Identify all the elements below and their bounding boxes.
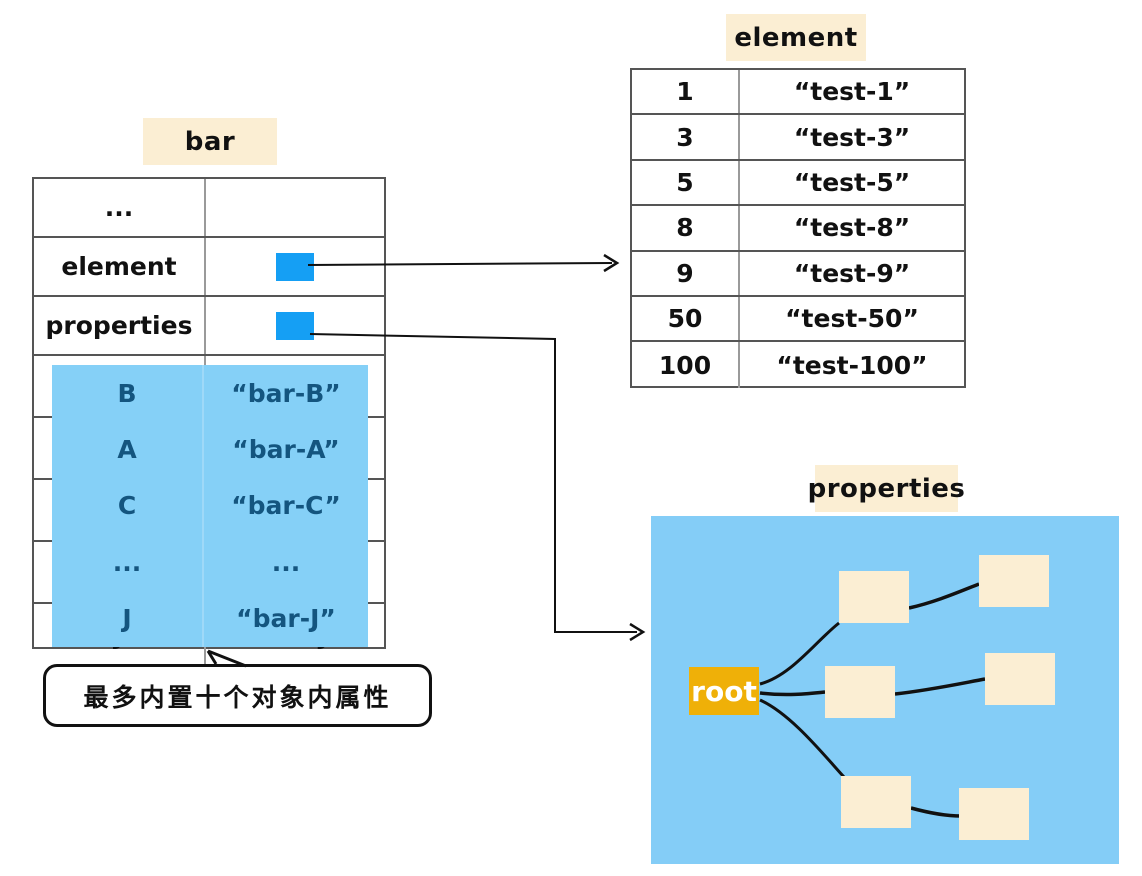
element-row-key: 1 — [632, 70, 740, 113]
table-row: ... — [34, 179, 384, 238]
table-row: 8 “test-8” — [632, 206, 964, 251]
table-row: J “bar-J” — [34, 604, 384, 666]
element-row-value: “test-1” — [740, 70, 964, 113]
callout-note: 最多内置十个对象内属性 — [43, 664, 432, 727]
properties-pointer-icon[interactable] — [276, 312, 314, 340]
bar-row-value: “bar-J” — [206, 604, 384, 666]
tree-node[interactable] — [839, 571, 909, 623]
table-row: 3 “test-3” — [632, 115, 964, 160]
element-row-key: 5 — [632, 161, 740, 204]
element-row-value: “test-3” — [740, 115, 964, 158]
table-row: properties — [34, 297, 384, 356]
bar-table-label: bar — [143, 118, 277, 165]
table-row: 100 “test-100” — [632, 342, 964, 387]
bar-row-key: C — [34, 480, 206, 540]
element-row-key: 8 — [632, 206, 740, 249]
element-row-value: “test-9” — [740, 252, 964, 295]
table-row: A “bar-A” — [34, 418, 384, 480]
element-row-key: 3 — [632, 115, 740, 158]
bar-row-key: A — [34, 418, 206, 478]
table-row: 9 “test-9” — [632, 252, 964, 297]
element-table-label: element — [726, 14, 866, 61]
tree-node-root[interactable]: root — [689, 667, 759, 715]
bar-row-key: ... — [34, 542, 206, 602]
element-table: 1 “test-1” 3 “test-3” 5 “test-5” 8 “test… — [630, 68, 966, 388]
tree-node[interactable] — [985, 653, 1055, 705]
table-row: element — [34, 238, 384, 297]
table-row: C “bar-C” — [34, 480, 384, 542]
element-pointer-icon[interactable] — [276, 253, 314, 281]
bar-row-value: “bar-C” — [206, 480, 384, 540]
bar-row-key: properties — [34, 297, 206, 354]
element-row-key: 100 — [632, 342, 740, 387]
bar-row-key: ... — [34, 179, 206, 236]
arrowhead-properties — [630, 624, 643, 640]
bar-row-key: J — [34, 604, 206, 666]
table-row: 50 “test-50” — [632, 297, 964, 342]
bar-table: ... element properties B “bar-B” A “bar-… — [32, 177, 386, 649]
tree-node[interactable] — [841, 776, 911, 828]
table-row: ... ... — [34, 542, 384, 604]
arrowhead-element — [604, 255, 617, 271]
bar-row-value: ... — [206, 542, 384, 602]
element-row-key: 50 — [632, 297, 740, 340]
element-row-value: “test-8” — [740, 206, 964, 249]
table-row: 1 “test-1” — [632, 70, 964, 115]
element-row-value: “test-100” — [740, 342, 964, 387]
bar-row-value — [206, 297, 384, 354]
element-row-key: 9 — [632, 252, 740, 295]
element-row-value: “test-50” — [740, 297, 964, 340]
bar-row-key: element — [34, 238, 206, 295]
table-row: 5 “test-5” — [632, 161, 964, 206]
bar-row-value: “bar-A” — [206, 418, 384, 478]
bar-row-value: “bar-B” — [206, 356, 384, 416]
tree-node[interactable] — [825, 666, 895, 718]
tree-node[interactable] — [979, 555, 1049, 607]
tree-node[interactable] — [959, 788, 1029, 840]
table-row: B “bar-B” — [34, 356, 384, 418]
bar-row-value — [206, 238, 384, 295]
properties-panel: root — [651, 516, 1119, 864]
bar-row-value — [206, 179, 384, 236]
callout-text: 最多内置十个对象内属性 — [83, 678, 391, 714]
bar-row-key: B — [34, 356, 206, 416]
element-row-value: “test-5” — [740, 161, 964, 204]
properties-panel-label: properties — [815, 465, 958, 512]
